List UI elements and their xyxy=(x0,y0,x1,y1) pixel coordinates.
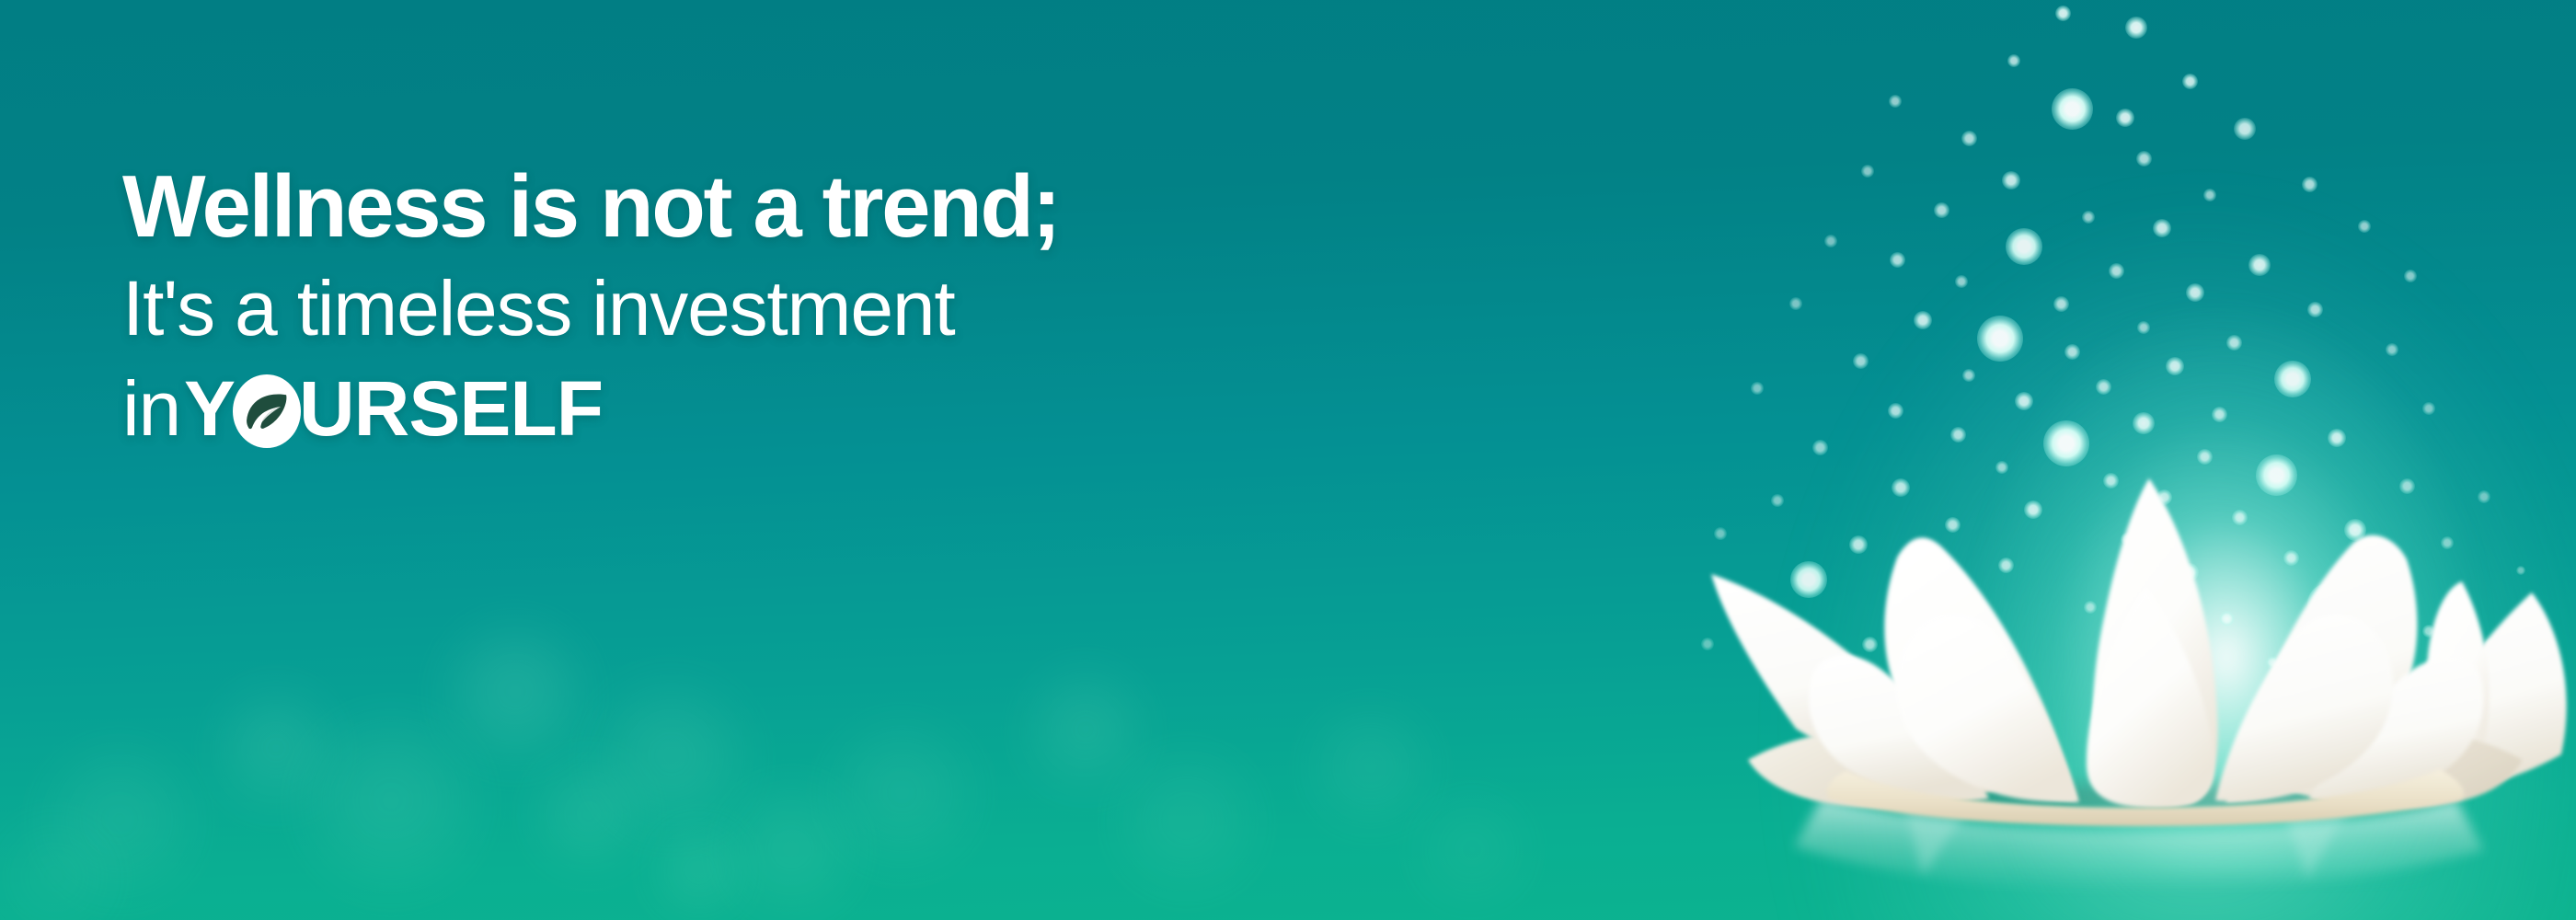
sparkle-dot xyxy=(1824,235,1837,247)
sparkle-dot xyxy=(2226,335,2242,351)
headline-line-3-prefix: in xyxy=(122,359,180,459)
sparkle-dot xyxy=(2136,151,2152,167)
sparkle-dot xyxy=(1889,95,1902,108)
sparkle-dot xyxy=(2137,321,2150,334)
sparkle-dot xyxy=(2234,118,2256,140)
leaf-in-circle-icon xyxy=(233,374,301,448)
sparkle-dot xyxy=(1812,440,1828,455)
sparkle-dot xyxy=(2307,302,2323,317)
sparkle-dot xyxy=(2358,220,2371,233)
sparkle-dot xyxy=(2232,510,2248,525)
sparkle-dot xyxy=(2422,402,2435,415)
sparkle-dot xyxy=(2266,656,2279,669)
sparkle-dot xyxy=(1742,615,1758,630)
sparkle-dot xyxy=(2283,550,2299,566)
sparkle-dot xyxy=(1790,561,1827,598)
bokeh-blob xyxy=(0,814,124,920)
sparkle-particles xyxy=(0,0,2576,920)
sparkle-dot xyxy=(2064,344,2080,360)
sparkle-dot xyxy=(1892,478,1910,497)
sparkle-dot xyxy=(1701,638,1714,650)
sparkle-dot xyxy=(2186,283,2204,302)
bokeh-blob xyxy=(722,782,860,920)
bokeh-blob xyxy=(216,685,336,823)
bokeh-blob xyxy=(1109,748,1265,909)
sparkle-dot xyxy=(2121,533,2133,546)
sparkle-dot xyxy=(2166,357,2184,375)
sparkle-dot xyxy=(2182,74,2198,89)
sparkle-dot xyxy=(2485,638,2498,650)
sparkle-dot xyxy=(2084,601,2097,614)
wellness-hero-banner: Wellness is not a trend; It's a timeless… xyxy=(0,0,2576,920)
sparkle-dot xyxy=(1998,558,2014,573)
sparkle-dot xyxy=(2441,536,2454,549)
sparkle-dot xyxy=(2103,473,2119,489)
bokeh-blob xyxy=(294,711,488,909)
white-lotus-flower xyxy=(1693,478,2576,920)
sparkle-dot xyxy=(2052,88,2093,130)
sparkle-dot xyxy=(2344,519,2366,541)
sparkle-dot xyxy=(1853,353,1869,369)
center-glow xyxy=(1969,304,2484,874)
sparkle-dot xyxy=(2197,449,2213,465)
sparkle-dot xyxy=(1955,275,1968,288)
sparkle-dot xyxy=(2024,500,2042,519)
headline-line-1: Wellness is not a trend; xyxy=(122,155,1502,259)
lotus-reflection xyxy=(1794,799,2484,892)
sparkle-dot xyxy=(1888,403,1903,419)
bokeh-blobs xyxy=(0,0,2576,920)
sparkle-dot xyxy=(2043,420,2089,466)
sparkle-dot xyxy=(1890,252,1905,268)
sparkle-dot xyxy=(2399,478,2415,494)
sparkle-dot xyxy=(1714,527,1727,540)
sparkle-dot xyxy=(2006,228,2042,265)
sparkle-dot xyxy=(2082,211,2095,224)
lotus-halo-glow xyxy=(1803,166,2576,920)
sparkle-dot xyxy=(1977,316,2023,362)
sparkle-dot xyxy=(2007,54,2020,67)
sparkle-dot xyxy=(2363,642,2378,658)
sparkle-dot xyxy=(2274,361,2311,397)
sparkle-dot xyxy=(1861,165,1874,178)
sparkle-dot xyxy=(2156,489,2172,505)
bokeh-blob xyxy=(1306,704,1435,842)
sparkle-dot xyxy=(2385,578,2400,593)
sparkle-dot xyxy=(2248,254,2271,276)
sparkle-dot xyxy=(2116,109,2134,127)
sparkle-dot xyxy=(1771,494,1784,507)
sparkle-dot xyxy=(1862,637,1878,652)
sparkle-dot xyxy=(2109,263,2124,279)
sparkle-dot xyxy=(2096,379,2111,395)
sparkle-dot xyxy=(2203,189,2216,201)
sparkle-dot xyxy=(2180,563,2199,581)
sparkle-dot xyxy=(1849,535,1868,554)
sparkle-dot xyxy=(2391,693,2404,706)
sparkle-dot xyxy=(2212,407,2227,422)
sparkle-dot xyxy=(1914,311,1932,329)
bokeh-blob xyxy=(1026,667,1145,805)
headline-line-2: It's a timeless investment xyxy=(122,259,1502,359)
sparkle-dot xyxy=(1913,590,1926,603)
bokeh-blob xyxy=(589,679,754,849)
sparkle-dot xyxy=(2478,490,2490,503)
bokeh-blob xyxy=(442,621,589,777)
headline-block: Wellness is not a trend; It's a timeless… xyxy=(122,155,1502,460)
sparkle-dot xyxy=(2015,392,2033,410)
sparkle-dot xyxy=(1950,427,1966,443)
bokeh-blob xyxy=(534,757,644,881)
sparkle-dot xyxy=(2302,177,2317,192)
sparkle-dot xyxy=(2386,343,2398,356)
sparkle-dot xyxy=(2422,625,2435,638)
sparkle-dot xyxy=(2055,6,2071,21)
sparkle-dot xyxy=(2442,668,2457,684)
sparkle-dot xyxy=(2256,454,2297,496)
sparkle-dot xyxy=(2219,611,2235,627)
sparkle-dot xyxy=(2125,17,2147,39)
sparkle-dot xyxy=(2053,296,2069,312)
brand-letter-y: Y xyxy=(184,359,235,459)
sparkle-dot xyxy=(2516,566,2525,575)
sparkle-dot xyxy=(2328,429,2346,447)
sparkle-dot xyxy=(1962,369,1975,382)
sparkle-dot xyxy=(2307,583,2349,625)
sparkle-dot xyxy=(1995,461,2008,474)
bokeh-blob xyxy=(37,741,202,915)
sparkle-dot xyxy=(1934,202,1949,218)
sparkle-dot xyxy=(2133,412,2155,434)
sparkle-dot xyxy=(1789,297,1802,310)
headline-line-3: in Y URSELF xyxy=(122,359,1502,459)
brand-letters-urself: URSELF xyxy=(299,359,603,459)
bokeh-blob xyxy=(658,828,741,920)
bokeh-blob xyxy=(822,718,983,883)
sparkle-dot xyxy=(1751,382,1764,395)
sparkle-dot xyxy=(2153,219,2171,237)
sparkle-dot xyxy=(2404,270,2417,282)
brand-wordmark: Y URSELF xyxy=(180,359,603,459)
bokeh-blob xyxy=(1412,791,1532,920)
sparkle-dot xyxy=(2002,171,2020,190)
sparkle-dot xyxy=(1945,517,1961,533)
sparkle-dot xyxy=(1961,131,1977,146)
